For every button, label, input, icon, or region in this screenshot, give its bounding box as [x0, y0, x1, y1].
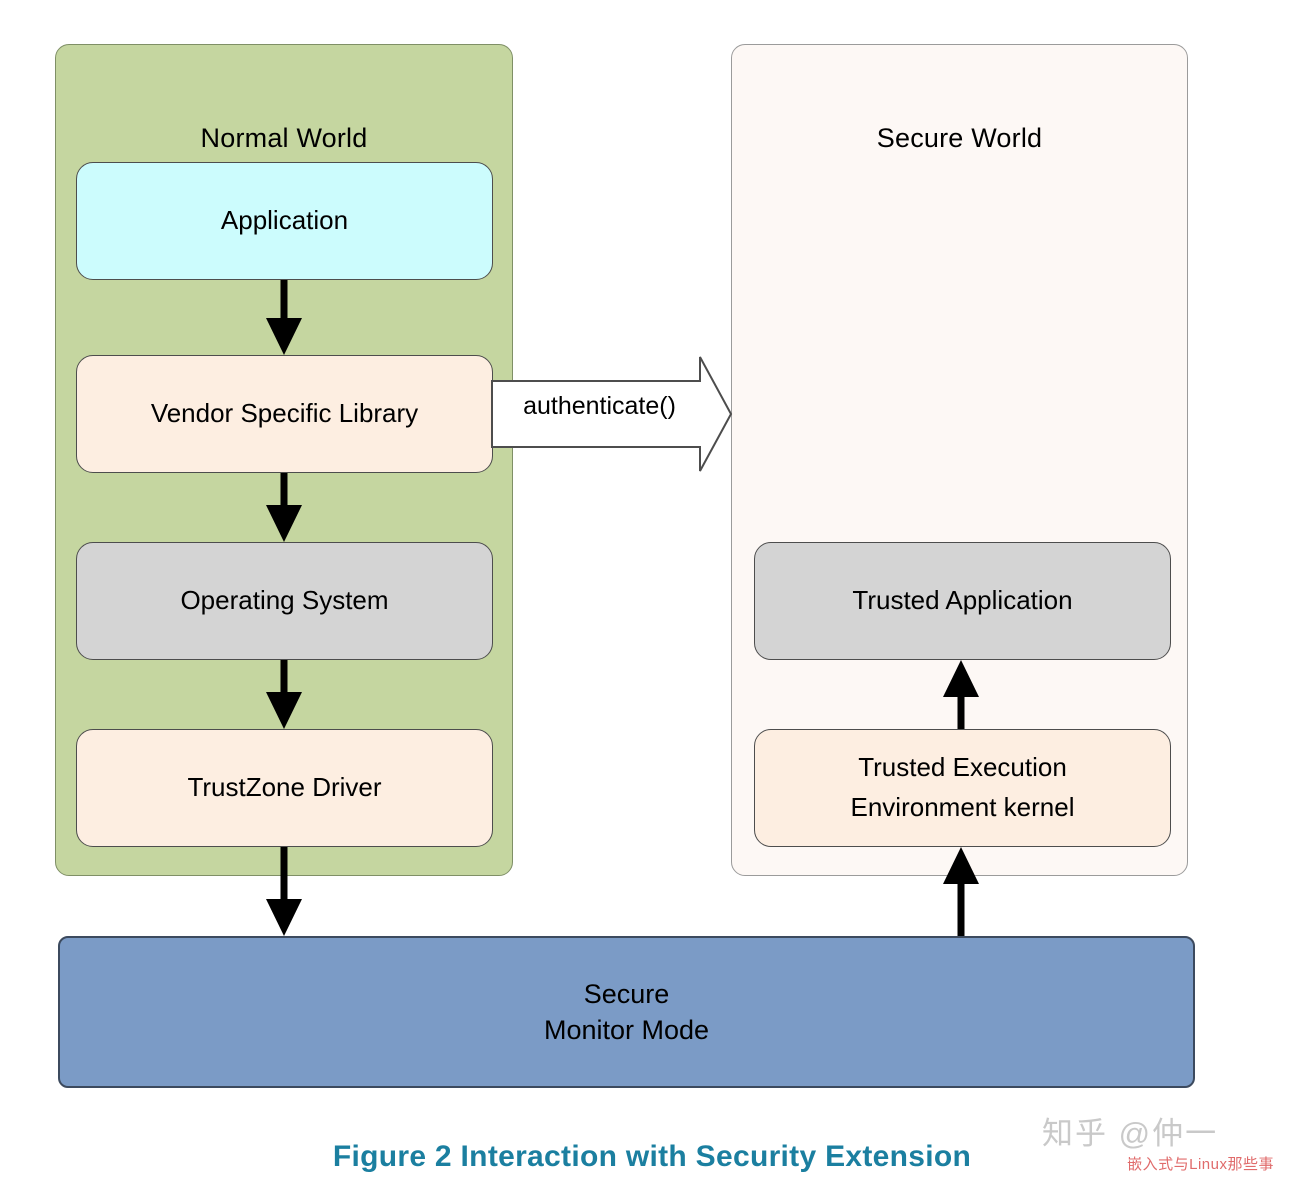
- authenticate-call-label: authenticate(): [492, 392, 707, 421]
- node-trustzone-driver[interactable]: TrustZone Driver: [76, 729, 493, 847]
- normal-world-title: Normal World: [56, 123, 512, 154]
- node-operating-system-label: Operating System: [180, 585, 388, 617]
- node-operating-system[interactable]: Operating System: [76, 542, 493, 660]
- node-vendor-specific-library-label: Vendor Specific Library: [151, 398, 418, 430]
- node-application[interactable]: Application: [76, 162, 493, 280]
- node-secure-monitor-label-line1: Secure: [584, 976, 670, 1012]
- secure-world-title: Secure World: [732, 123, 1187, 154]
- watermark-sub-text: 嵌入式与Linux那些事: [1042, 1153, 1282, 1174]
- node-secure-monitor-label-line2: Monitor Mode: [544, 1012, 709, 1048]
- node-application-label: Application: [221, 205, 348, 237]
- node-trusted-application-label: Trusted Application: [852, 585, 1072, 617]
- figure-canvas: Normal World Secure World Application Ve…: [0, 0, 1304, 1201]
- node-tee-kernel-label-line2: Environment kernel: [851, 792, 1075, 824]
- watermark: 知乎 @仲一 嵌入式与Linux那些事: [1042, 1118, 1282, 1174]
- node-trusted-execution-environment-kernel[interactable]: Trusted Execution Environment kernel: [754, 729, 1171, 847]
- watermark-main-text: 知乎 @仲一: [1042, 1118, 1282, 1151]
- node-vendor-specific-library[interactable]: Vendor Specific Library: [76, 355, 493, 473]
- node-trusted-application[interactable]: Trusted Application: [754, 542, 1171, 660]
- node-trustzone-driver-label: TrustZone Driver: [187, 772, 381, 804]
- node-secure-monitor-mode[interactable]: Secure Monitor Mode: [58, 936, 1195, 1088]
- node-tee-kernel-label-line1: Trusted Execution: [858, 752, 1067, 784]
